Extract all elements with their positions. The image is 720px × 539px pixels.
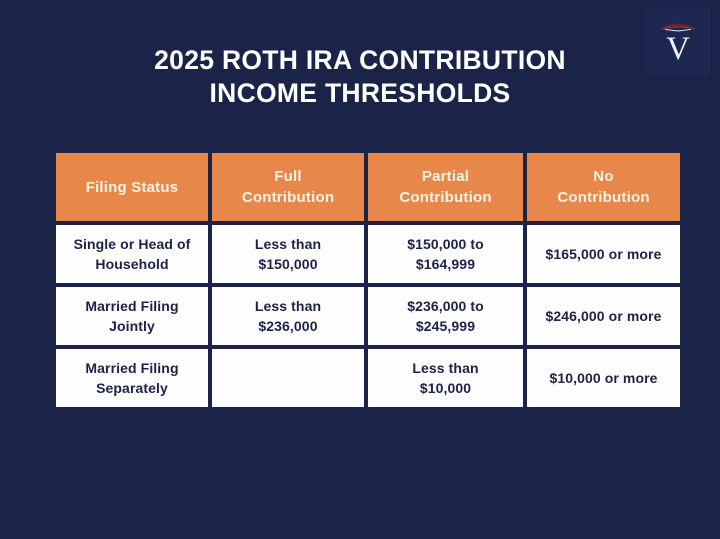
cell-filing-status: Married Filing Separately — [56, 349, 208, 407]
cell-filing-status: Single or Head of Household — [56, 225, 208, 283]
header-line-1: Partial — [374, 166, 517, 187]
thresholds-table: Filing Status Full Contribution Partial … — [52, 149, 684, 411]
cell-partial-contribution: $236,000 to $245,999 — [368, 287, 523, 345]
table-header-row: Filing Status Full Contribution Partial … — [56, 153, 680, 221]
header-line-1: Full — [218, 166, 358, 187]
cell-full-contribution: Less than $236,000 — [212, 287, 364, 345]
cell-no-contribution: $10,000 or more — [527, 349, 680, 407]
column-header-filing-status: Filing Status — [56, 153, 208, 221]
cell-line-1: $150,000 to — [374, 234, 517, 254]
table-header: Filing Status Full Contribution Partial … — [56, 153, 680, 221]
title-line-1: 2025 ROTH IRA CONTRIBUTION — [0, 44, 720, 77]
cell-line-1: Married Filing — [62, 296, 202, 316]
header-line-2: Contribution — [218, 187, 358, 208]
cell-line-2: $164,999 — [374, 254, 517, 274]
column-header-no-contribution: No Contribution — [527, 153, 680, 221]
cell-line-1: Less than — [218, 234, 358, 254]
title-line-2: INCOME THRESHOLDS — [0, 77, 720, 110]
cell-line-1: $10,000 or more — [533, 368, 674, 388]
cell-line-1: $165,000 or more — [533, 244, 674, 264]
cell-line-2: Separately — [62, 378, 202, 398]
cell-no-contribution: $246,000 or more — [527, 287, 680, 345]
cell-full-contribution: Less than $150,000 — [212, 225, 364, 283]
table-row: Married Filing Separately Less than $10,… — [56, 349, 680, 407]
slide-canvas: V 2025 ROTH IRA CONTRIBUTION INCOME THRE… — [0, 0, 720, 539]
cell-line-1: Less than — [218, 296, 358, 316]
cell-line-2: $10,000 — [374, 378, 517, 398]
cell-line-1: Single or Head of — [62, 234, 202, 254]
cell-line-1: Less than — [374, 358, 517, 378]
cell-line-2: $150,000 — [218, 254, 358, 274]
cell-partial-contribution: Less than $10,000 — [368, 349, 523, 407]
column-header-partial-contribution: Partial Contribution — [368, 153, 523, 221]
cell-no-contribution: $165,000 or more — [527, 225, 680, 283]
cell-line-2: Household — [62, 254, 202, 274]
thresholds-table-wrapper: Filing Status Full Contribution Partial … — [52, 149, 668, 411]
header-line-2: Contribution — [374, 187, 517, 208]
header-line-2: Contribution — [533, 187, 674, 208]
cell-partial-contribution: $150,000 to $164,999 — [368, 225, 523, 283]
cell-line-1: Married Filing — [62, 358, 202, 378]
column-header-full-contribution: Full Contribution — [212, 153, 364, 221]
table-body: Single or Head of Household Less than $1… — [56, 225, 680, 407]
cell-line-1: $246,000 or more — [533, 306, 674, 326]
header-line-1: Filing Status — [62, 177, 202, 198]
header-line-1: No — [533, 166, 674, 187]
cell-filing-status: Married Filing Jointly — [56, 287, 208, 345]
slide-title: 2025 ROTH IRA CONTRIBUTION INCOME THRESH… — [0, 44, 720, 110]
table-row: Married Filing Jointly Less than $236,00… — [56, 287, 680, 345]
cell-line-2: $236,000 — [218, 316, 358, 336]
cell-full-contribution — [212, 349, 364, 407]
table-row: Single or Head of Household Less than $1… — [56, 225, 680, 283]
cell-line-2: Jointly — [62, 316, 202, 336]
cell-line-2: $245,999 — [374, 316, 517, 336]
cell-line-1: $236,000 to — [374, 296, 517, 316]
